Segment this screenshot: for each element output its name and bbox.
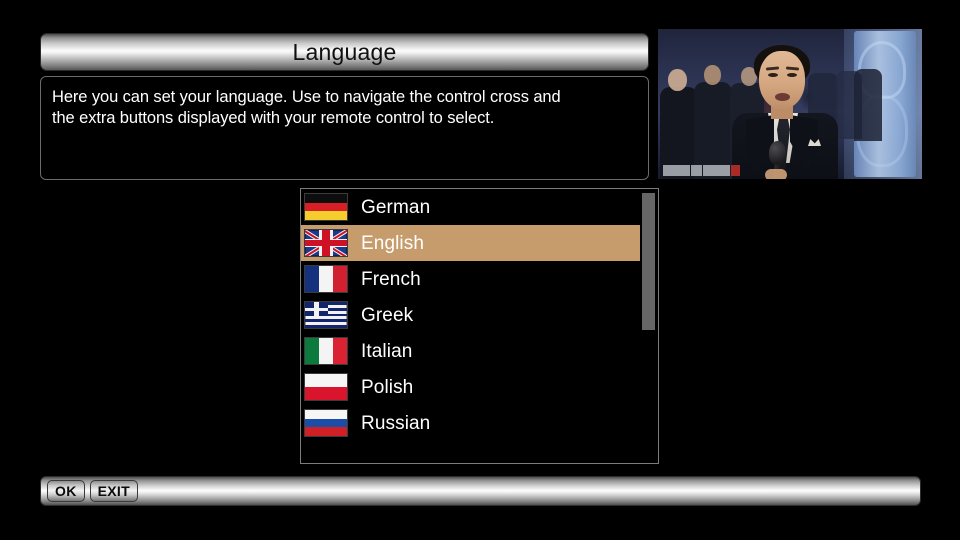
video-reporter-hand (765, 169, 787, 179)
language-list-item[interactable]: German (301, 189, 641, 225)
video-crowd-head (668, 69, 687, 91)
language-list-item[interactable]: Greek (301, 297, 641, 333)
list-scrollbar[interactable] (640, 190, 657, 464)
flag-ru-icon (304, 409, 348, 437)
title-bar: Language (40, 33, 649, 71)
language-list-item-label: French (361, 270, 421, 289)
broadcaster-logo-icon (663, 165, 740, 176)
language-list-item-label: English (361, 234, 424, 253)
video-microphone-icon (769, 141, 786, 165)
tv-settings-screen: Language Here you can set your language.… (0, 0, 960, 540)
language-list-item-label: Italian (361, 342, 412, 361)
language-list-panel[interactable]: GermanEnglishFrenchGreekItalianPolishRus… (300, 188, 659, 464)
language-list: GermanEnglishFrenchGreekItalianPolishRus… (301, 189, 641, 441)
language-list-item[interactable]: French (301, 261, 641, 297)
exit-button[interactable]: EXIT (90, 480, 138, 502)
page-title: Language (293, 41, 397, 64)
flag-de-icon (304, 193, 348, 221)
video-crowd-figure (854, 69, 882, 141)
video-reporter-eye (768, 73, 778, 77)
exit-button-label: EXIT (98, 484, 130, 498)
flag-it-icon (304, 337, 348, 365)
video-reporter-mouth (775, 93, 790, 101)
language-list-item-label: German (361, 198, 430, 217)
ok-button-label: OK (55, 484, 77, 498)
language-list-item[interactable]: Russian (301, 405, 641, 441)
list-scrollbar-thumb[interactable] (642, 193, 655, 330)
video-preview[interactable] (658, 29, 922, 179)
language-list-item[interactable]: English (301, 225, 641, 261)
video-reporter-eye (787, 73, 797, 77)
video-crowd-head (704, 65, 721, 85)
flag-pl-icon (304, 373, 348, 401)
bottom-button-bar: OK EXIT (40, 476, 921, 506)
flag-fr-icon (304, 265, 348, 293)
language-list-item-label: Greek (361, 306, 413, 325)
language-list-item-label: Russian (361, 414, 430, 433)
language-list-item-label: Polish (361, 378, 413, 397)
ok-button[interactable]: OK (47, 480, 85, 502)
flag-gb-icon (304, 229, 348, 257)
help-text: Here you can set your language. Use to n… (52, 87, 637, 129)
help-info-box: Here you can set your language. Use to n… (40, 76, 649, 180)
language-list-item[interactable]: Italian (301, 333, 641, 369)
flag-gr-icon (304, 301, 348, 329)
language-list-item[interactable]: Polish (301, 369, 641, 405)
